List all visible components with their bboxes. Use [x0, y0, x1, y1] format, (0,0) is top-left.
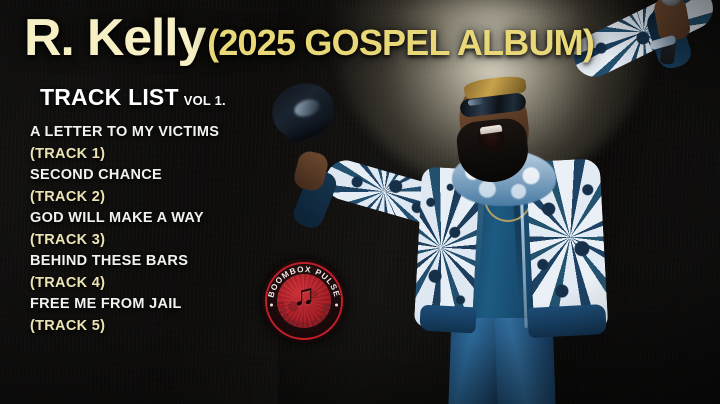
track-title: SECOND CHANCE	[30, 165, 310, 187]
badge-arc-bottom: BOOMBOX PULSE	[277, 302, 331, 330]
album-thumbnail: R. Kelly (2025 GOSPEL ALBUM) TRACK LIST …	[0, 0, 720, 404]
track-title: GOD WILL MAKE A WAY	[30, 208, 310, 230]
badge-arc-top-text: BOOMBOX PULSE	[266, 265, 341, 299]
track-number: (TRACK 3)	[30, 230, 310, 252]
album-title-main: R. Kelly	[24, 8, 205, 68]
tracklist-heading: TRACK LIST VOL 1.	[40, 84, 226, 111]
album-title-parenthetical: (2025 GOSPEL ALBUM)	[207, 22, 594, 64]
track-number: (TRACK 1)	[30, 144, 310, 166]
tracklist-volume-label: VOL 1.	[184, 93, 226, 108]
list-item: SECOND CHANCE (TRACK 2)	[30, 165, 310, 208]
list-item: GOD WILL MAKE A WAY (TRACK 3)	[30, 208, 310, 251]
badge-arc-text-group: BOOMBOX PULSE BOOMBOX PULSE	[262, 259, 346, 343]
boombox-pulse-badge: ♫ BOOMBOX PULSE BOOMBOX PULSE	[262, 259, 346, 343]
tracklist-heading-label: TRACK LIST	[40, 84, 179, 111]
badge-arc-top: BOOMBOX PULSE	[266, 265, 341, 299]
list-item: A LETTER TO MY VICTIMS (TRACK 1)	[30, 122, 310, 165]
badge-dot-right	[335, 304, 338, 307]
album-title: R. Kelly (2025 GOSPEL ALBUM)	[24, 8, 594, 68]
badge-arc-bottom-text: BOOMBOX PULSE	[277, 302, 331, 330]
badge-dot-left	[270, 304, 273, 307]
track-number: (TRACK 2)	[30, 187, 310, 209]
track-title: A LETTER TO MY VICTIMS	[30, 122, 310, 144]
